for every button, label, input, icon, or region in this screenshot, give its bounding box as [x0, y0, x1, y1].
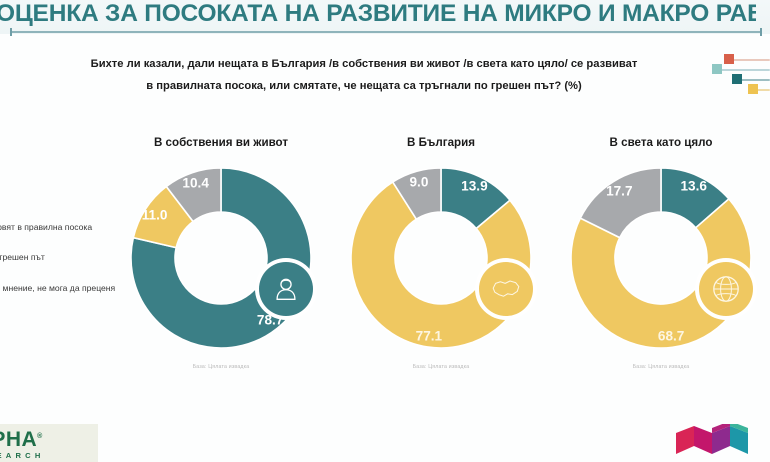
- donut-chart-world: В света като цяло 13.6 68.7 17.7 База: Ц…: [546, 136, 770, 370]
- slice-value-label: 68.7: [658, 329, 684, 344]
- globe-icon-badge: [699, 262, 753, 316]
- chart-title: В света като цяло: [546, 136, 770, 149]
- title-divider: [10, 31, 762, 33]
- legend-label: По грешен път: [0, 252, 45, 262]
- person-icon-badge: [259, 262, 313, 316]
- slice-value-label: 11.0: [142, 208, 168, 223]
- donut-svg: [123, 160, 319, 356]
- question-line-2: правилната посока, или смятате, че нещат…: [156, 80, 581, 92]
- globe-icon: [710, 273, 742, 305]
- page-title: ОЦЕНКА ЗА ПОСОКАТА НА РАЗВИТИЕ НА МИКРО …: [0, 0, 756, 29]
- deco-square-red-icon: [724, 54, 734, 64]
- bulgaria-map-icon: [490, 276, 522, 302]
- deco-square-lightteal-icon: [712, 64, 722, 74]
- legend-item-no-opinion: Без мнение, не мога да преценя: [0, 283, 116, 294]
- slice-value-label: 10.4: [182, 176, 208, 191]
- chart-footnote: База: Цялата извадка: [546, 364, 770, 370]
- logo-registered-mark: ®: [37, 433, 43, 440]
- donut-area: 13.9 77.1 9.0: [343, 160, 539, 356]
- slice-value-label: 77.1: [416, 329, 442, 344]
- person-icon: [271, 274, 301, 304]
- slice-value-label: 17.7: [606, 183, 632, 198]
- logo-subtext: ESEARCH: [0, 452, 98, 460]
- legend-label: Без мнение, не мога да преценя: [0, 283, 115, 293]
- alpha-research-logo: LPHA® ESEARCH: [0, 424, 98, 462]
- chart-title: В собствения ви живот: [106, 136, 336, 149]
- bulgaria-map-icon-badge: [479, 262, 533, 316]
- legend-item-right-direction: Вървят в правилна посока: [0, 222, 116, 233]
- deco-square-teal-icon: [732, 74, 742, 84]
- chart-footnote: База: Цялата извадка: [326, 364, 556, 370]
- donut-chart-own-life: В собствения ви живот 78.7 11.0 10.4 Баз…: [106, 136, 336, 370]
- slice-value-label: 9.0: [410, 175, 429, 190]
- donut-area: 13.6 68.7 17.7: [563, 160, 759, 356]
- slice-value-label: 13.6: [681, 179, 707, 194]
- logo-wordmark: LPHA®: [0, 429, 98, 450]
- deco-square-yellow-icon: [748, 84, 758, 94]
- slice-value-label: 13.9: [461, 179, 487, 194]
- legend-item-wrong-direction: По грешен път: [0, 252, 116, 263]
- partner-logo: [672, 424, 758, 458]
- logo-wordmark-text: LPHA: [0, 428, 37, 451]
- slide-root: ОЦЕНКА ЗА ПОСОКАТА НА РАЗВИТИЕ НА МИКРО …: [0, 0, 770, 462]
- chart-footnote: База: Цялата извадка: [106, 364, 336, 370]
- partner-logo-icon: [672, 424, 758, 458]
- decorative-marks: [712, 46, 770, 98]
- donut-svg: [343, 160, 539, 356]
- donut-area: 78.7 11.0 10.4: [123, 160, 319, 356]
- chart-legend: Вървят в правилна посока По грешен път Б…: [0, 222, 116, 313]
- question-text: Бихте ли казали, дали нещата в България …: [86, 54, 642, 98]
- legend-label: Вървят в правилна посока: [0, 222, 92, 232]
- donut-svg: [563, 160, 759, 356]
- chart-title: В България: [326, 136, 556, 149]
- donut-chart-bulgaria: В България 13.9 77.1 9.0 База: Цялата из…: [326, 136, 556, 370]
